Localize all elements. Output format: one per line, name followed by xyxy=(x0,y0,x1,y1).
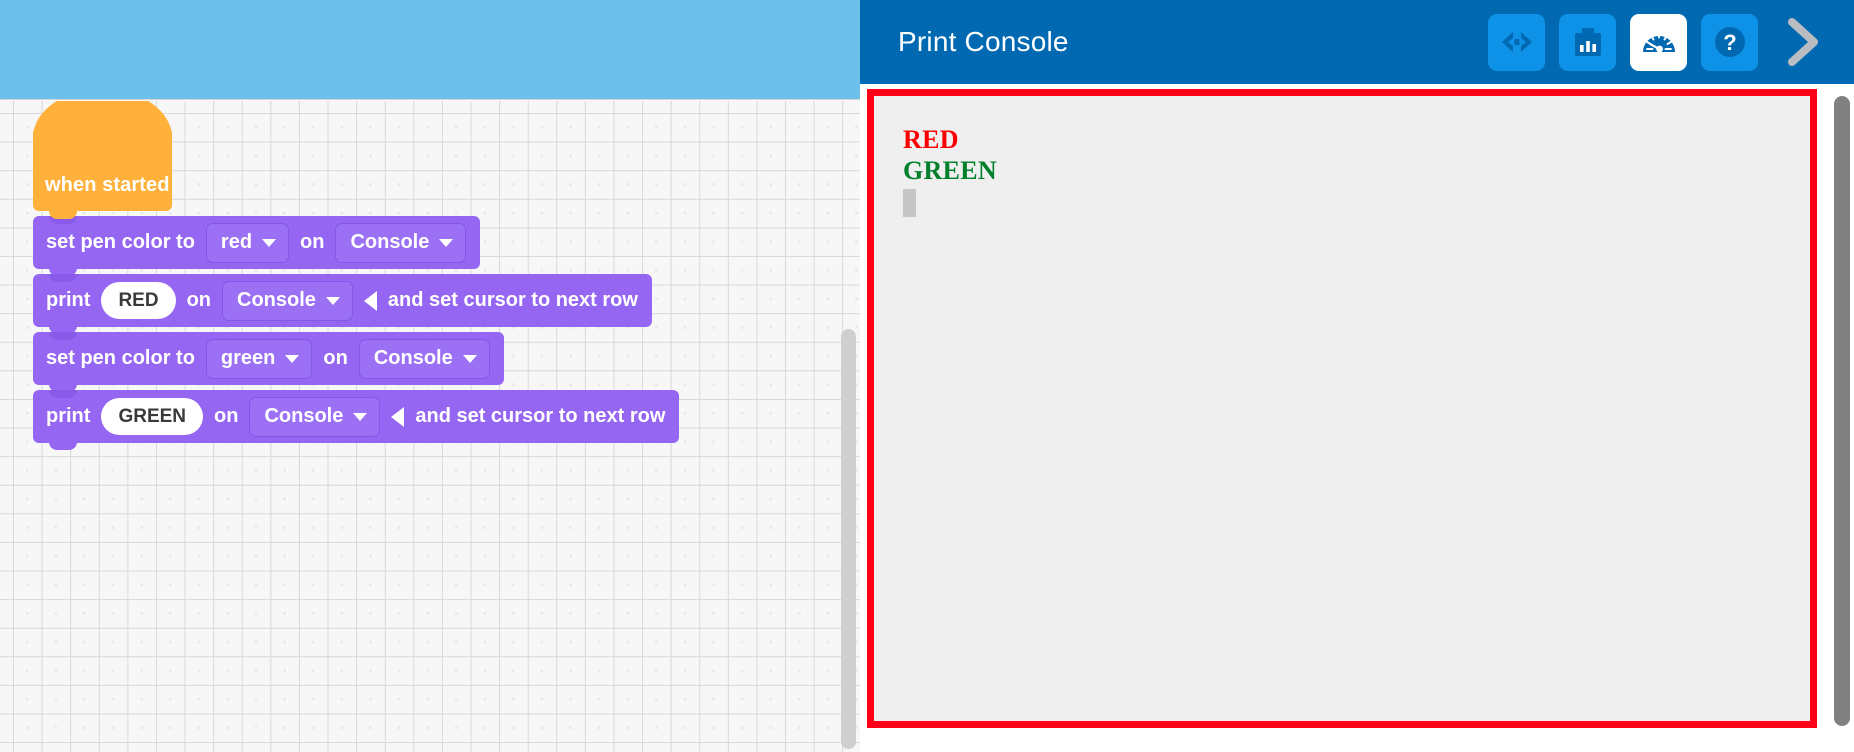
dropdown-target-device[interactable]: Console xyxy=(249,397,380,437)
dropdown-pen-color[interactable]: green xyxy=(206,339,312,379)
carriage-return-icon xyxy=(391,407,404,427)
code-view-icon[interactable] xyxy=(1488,14,1545,71)
print-value: RED xyxy=(118,290,158,312)
block-label: print xyxy=(46,405,90,428)
block-label: set pen color to xyxy=(46,231,195,254)
help-icon[interactable]: ? xyxy=(1701,14,1758,71)
chevron-right-icon[interactable] xyxy=(1772,12,1832,72)
panel-toolbar: ? xyxy=(1488,12,1854,72)
chevron-down-icon xyxy=(326,297,340,305)
block-print-red[interactable]: print RED on Console and set cursor to n… xyxy=(33,274,652,327)
dropdown-target-device[interactable]: Console xyxy=(222,281,353,321)
console-output-frame: RED GREEN xyxy=(867,89,1817,728)
block-label: set pen color to xyxy=(46,347,195,370)
dropdown-value: red xyxy=(221,231,252,254)
chevron-down-icon xyxy=(353,413,367,421)
canvas-vertical-scrollbar[interactable] xyxy=(841,329,856,749)
block-label: on xyxy=(300,231,324,254)
block-canvas[interactable]: when started set pen color to red on Con… xyxy=(0,101,860,752)
chevron-down-icon xyxy=(439,239,453,247)
gauge-view-icon[interactable] xyxy=(1630,14,1687,71)
text-input-print-value[interactable]: GREEN xyxy=(101,398,203,435)
text-input-print-value[interactable]: RED xyxy=(101,282,175,319)
console-cursor xyxy=(903,189,916,217)
dropdown-value: Console xyxy=(350,231,429,254)
panel-header: Print Console xyxy=(860,0,1854,84)
block-label: and set cursor to next row xyxy=(415,405,665,428)
block-label: on xyxy=(187,289,211,312)
dropdown-target-device[interactable]: Console xyxy=(335,223,466,263)
dropdown-value: green xyxy=(221,347,275,370)
svg-text:?: ? xyxy=(1723,30,1736,55)
block-set-pen-color-green[interactable]: set pen color to green on Console xyxy=(33,332,504,385)
data-view-icon[interactable] xyxy=(1559,14,1616,71)
chevron-down-icon xyxy=(285,355,299,363)
block-label: on xyxy=(214,405,238,428)
block-editor-pane: when started set pen color to red on Con… xyxy=(0,0,860,752)
simulator-pane: Print Console xyxy=(860,0,1854,752)
when-started-label: when started xyxy=(45,174,170,197)
console-line: GREEN xyxy=(903,155,1810,186)
block-when-started[interactable]: when started xyxy=(33,131,172,211)
dropdown-target-device[interactable]: Console xyxy=(359,339,490,379)
block-label: and set cursor to next row xyxy=(388,289,638,312)
chevron-down-icon xyxy=(262,239,276,247)
block-set-pen-color-red[interactable]: set pen color to red on Console xyxy=(33,216,480,269)
dropdown-value: Console xyxy=(237,289,316,312)
chevron-down-icon xyxy=(463,355,477,363)
block-script-stack[interactable]: when started set pen color to red on Con… xyxy=(33,131,679,443)
console-output[interactable]: RED GREEN xyxy=(874,96,1810,721)
dropdown-pen-color[interactable]: red xyxy=(206,223,289,263)
simulator-vertical-scrollbar[interactable] xyxy=(1834,96,1850,726)
carriage-return-icon xyxy=(364,291,377,311)
dropdown-value: Console xyxy=(374,347,453,370)
block-print-green[interactable]: print GREEN on Console and set cursor to… xyxy=(33,390,679,443)
block-label: print xyxy=(46,289,90,312)
dropdown-value: Console xyxy=(264,405,343,428)
block-label: on xyxy=(323,347,347,370)
editor-toolbar xyxy=(0,0,860,100)
page-title: Print Console xyxy=(898,26,1069,58)
console-line: RED xyxy=(903,124,1810,155)
print-value: GREEN xyxy=(118,406,186,428)
app-root: when started set pen color to red on Con… xyxy=(0,0,1854,752)
